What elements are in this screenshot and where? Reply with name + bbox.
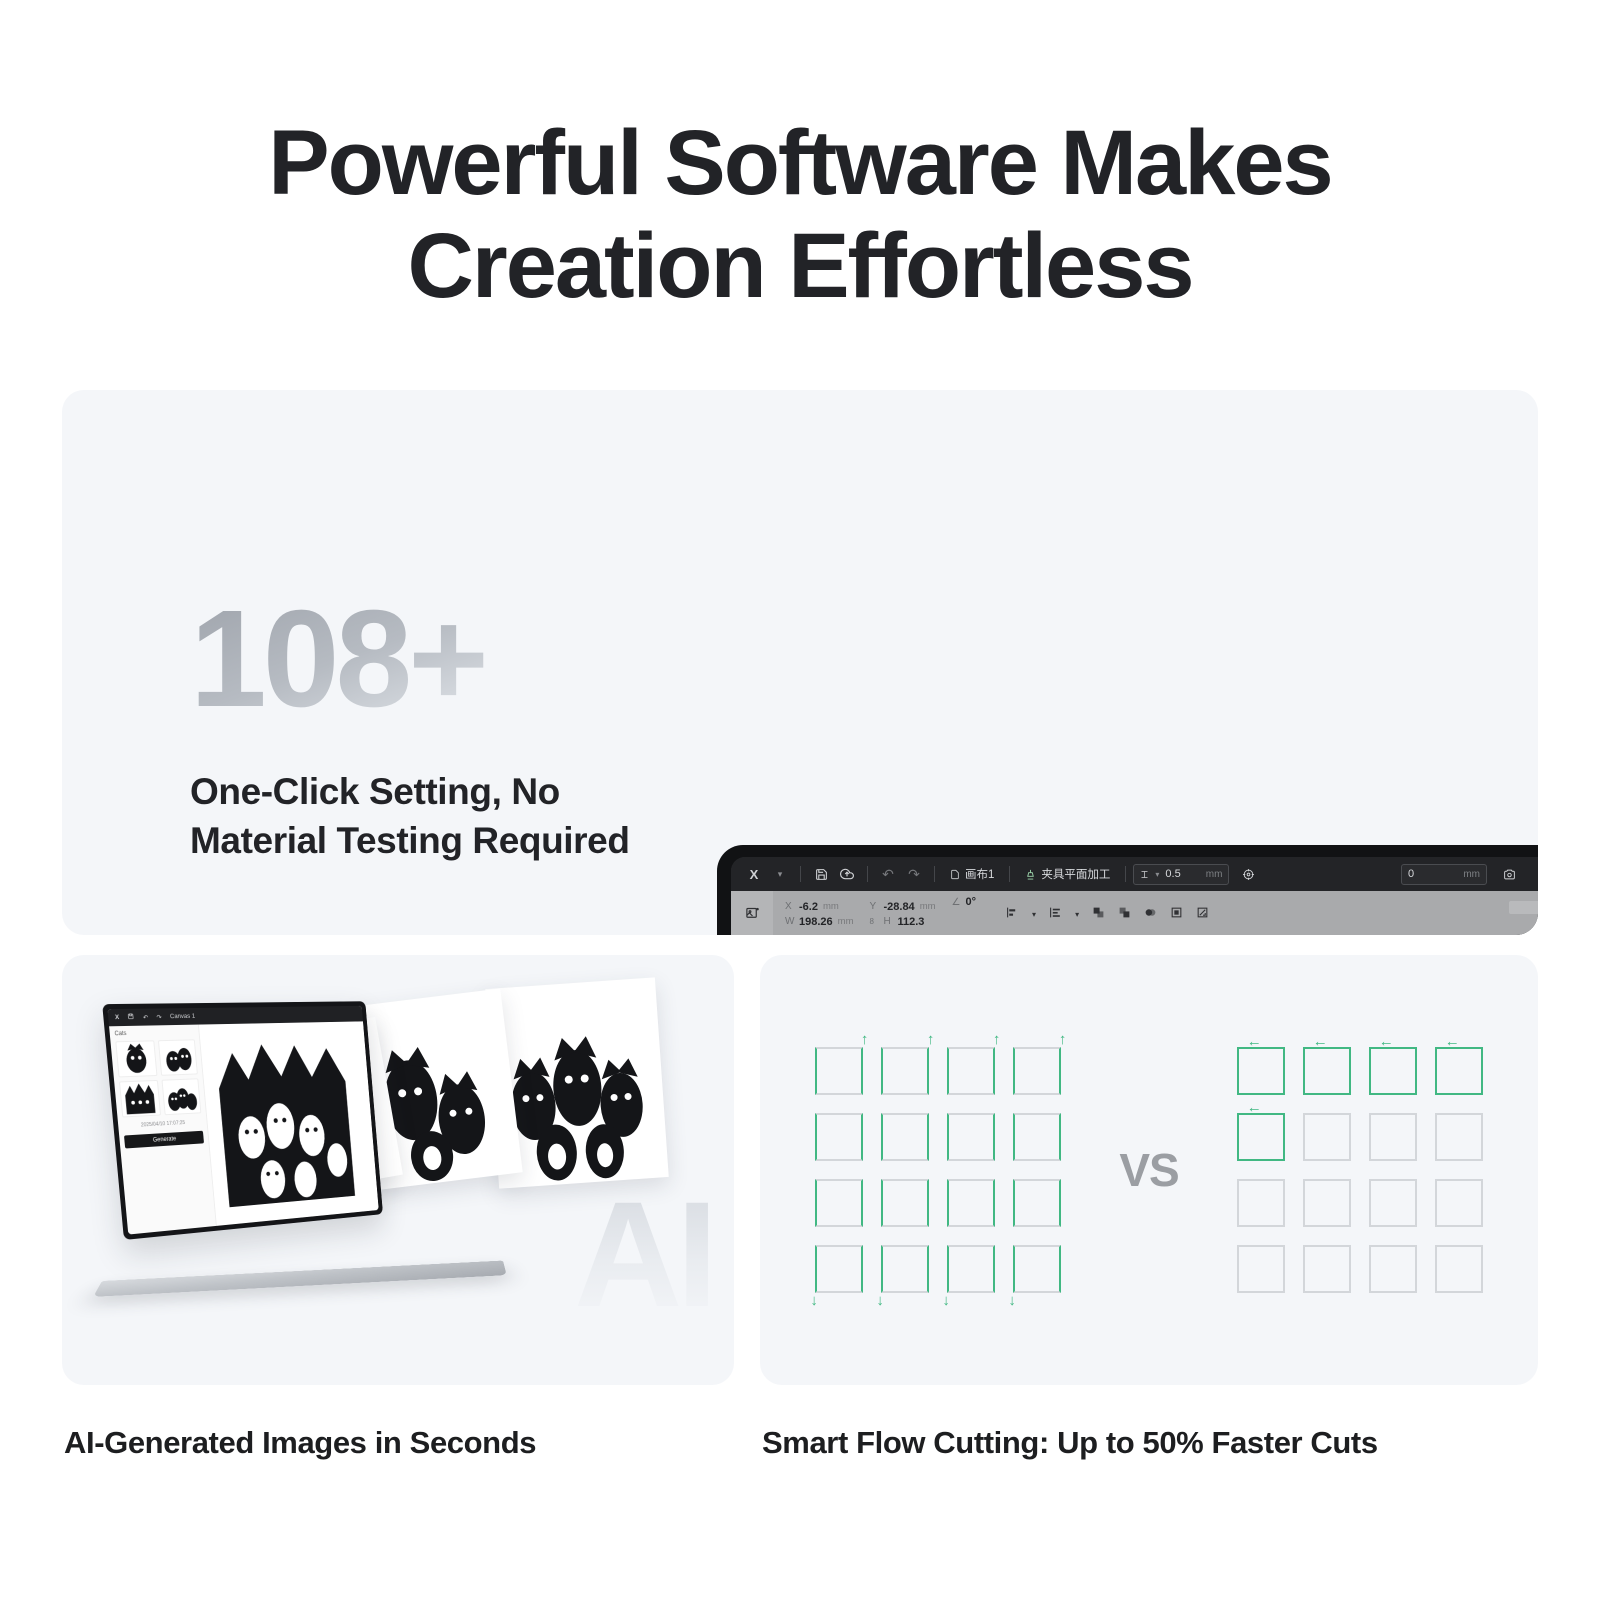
- toolbar-divider: [800, 866, 801, 882]
- flow-cell-square: [947, 1179, 995, 1227]
- flow-cell: ←: [1237, 1113, 1285, 1161]
- transform-icon[interactable]: [1196, 906, 1209, 922]
- y-value[interactable]: -28.84: [883, 901, 914, 913]
- offset-unit: mm: [1463, 869, 1480, 880]
- laptop-logo-icon[interactable]: X: [115, 1014, 120, 1021]
- flow-arrow-left-icon: ←: [1313, 1034, 1328, 1049]
- flow-arrow-up-icon: ↑: [861, 1032, 869, 1047]
- flow-cell: ←: [1435, 1047, 1483, 1095]
- offset-value: 0: [1408, 868, 1414, 880]
- toolbar-divider: [934, 866, 935, 882]
- flow-cell-square: [1237, 1113, 1285, 1161]
- stat-caption-line-2: Material Testing Required: [190, 820, 630, 861]
- app-workspace: T: [731, 891, 1538, 935]
- image-icon[interactable]: [741, 903, 763, 923]
- size-group: Y -28.84 mm 8 H 112.3: [869, 901, 935, 928]
- boolean-union-icon[interactable]: [1092, 906, 1105, 922]
- flow-cell: [881, 1113, 929, 1161]
- flow-cell-square: [881, 1113, 929, 1161]
- flow-cell: ←: [1369, 1047, 1417, 1095]
- flow-grid-standard: ←←←←←: [1237, 1047, 1483, 1293]
- flow-arrow-left-icon: ←: [1247, 1034, 1262, 1049]
- flow-arrow-left-icon: ←: [1247, 1100, 1262, 1115]
- flow-cell: [1013, 1113, 1061, 1161]
- flow-cell-square: [1237, 1245, 1285, 1293]
- laptop-app-body: Cats: [109, 1021, 379, 1234]
- flow-cell: [881, 1179, 929, 1227]
- angle-value[interactable]: 0°: [966, 896, 977, 908]
- flow-cell: ←: [1303, 1047, 1351, 1095]
- chevron-down-icon[interactable]: ▾: [1075, 910, 1079, 919]
- flow-cell: [1435, 1113, 1483, 1161]
- w-label: W: [785, 916, 794, 927]
- flow-cell-square: [1369, 1047, 1417, 1095]
- caption-ai-images: AI-Generated Images in Seconds: [64, 1425, 536, 1461]
- layer-chip[interactable]: [1509, 901, 1538, 914]
- page-title-line-2: Creation Effortless: [0, 215, 1600, 318]
- flow-comparison: ↑↑↑↑↓↓↓↓ VS ←←←←←: [760, 955, 1538, 1385]
- stat-caption: One-Click Setting, No Material Testing R…: [190, 768, 710, 866]
- flow-cell-square: [1369, 1179, 1417, 1227]
- flow-cell: [815, 1179, 863, 1227]
- flow-arrow-up-icon: ↑: [1059, 1032, 1067, 1047]
- page-title-line-1: Powerful Software Makes: [0, 112, 1600, 215]
- target-icon[interactable]: [1235, 862, 1261, 886]
- generation-timestamp: 2025/04/10 17:07:25: [123, 1119, 202, 1129]
- position-group: X -6.2 mm W 198.26 mm: [785, 901, 853, 928]
- flow-cell: ↑: [1013, 1047, 1061, 1095]
- left-tool-rail: T: [731, 891, 773, 935]
- flow-cell-square: [1013, 1179, 1061, 1227]
- laptop-mockup: X ↶ ↷ Canvas 1 Cats: [102, 995, 582, 1325]
- flow-cell-square: [1237, 1047, 1285, 1095]
- tablet-device-mockup: X ▾ ↶ ↷ 画布1: [717, 845, 1538, 935]
- flow-arrow-down-icon: ↓: [1008, 1293, 1016, 1308]
- flow-cell-square: [947, 1113, 995, 1161]
- app-top-toolbar: X ▾ ↶ ↷ 画布1: [731, 857, 1538, 891]
- stat-number: 108+: [190, 590, 710, 728]
- flow-arrow-down-icon: ↓: [810, 1293, 818, 1308]
- chevron-down-icon[interactable]: ▾: [1032, 910, 1036, 919]
- undo-icon[interactable]: ↶: [875, 862, 901, 886]
- flow-arrow-down-icon: ↓: [942, 1293, 950, 1308]
- flow-cell: ↑: [815, 1047, 863, 1095]
- flow-arrow-down-icon: ↓: [876, 1293, 884, 1308]
- app-logo-icon[interactable]: X: [741, 862, 767, 886]
- h-label: H: [883, 916, 892, 927]
- flow-cell: ←: [1237, 1047, 1285, 1095]
- toolbar-divider: [867, 866, 868, 882]
- flow-cell-square: [1435, 1047, 1483, 1095]
- flow-cell: ↑: [947, 1047, 995, 1095]
- thumbnail-item[interactable]: [161, 1078, 201, 1115]
- flow-cell-square: [1303, 1179, 1351, 1227]
- align-horizontal-icon[interactable]: [1006, 906, 1019, 922]
- flow-cell: ↓: [1013, 1245, 1061, 1293]
- laptop-sidebar: Cats: [109, 1025, 217, 1235]
- x-label: X: [785, 901, 794, 912]
- flow-cell: ↑: [881, 1047, 929, 1095]
- cloud-upload-icon[interactable]: [834, 862, 860, 886]
- flow-cell: [947, 1113, 995, 1161]
- redo-icon[interactable]: ↷: [901, 862, 927, 886]
- canvas-selector[interactable]: 画布1: [942, 866, 1002, 882]
- chevron-down-icon[interactable]: ▾: [767, 862, 793, 886]
- process-mode-label: 夹具平面加工: [1041, 866, 1110, 882]
- flow-cell: [1369, 1179, 1417, 1227]
- laptop-redo-icon[interactable]: ↷: [156, 1013, 162, 1021]
- page-title: Powerful Software Makes Creation Effortl…: [0, 0, 1600, 318]
- w-unit: mm: [838, 916, 854, 927]
- canvas-label: 画布1: [965, 866, 994, 882]
- flow-cell-square: [1369, 1245, 1417, 1293]
- flow-cell-square: [1237, 1179, 1285, 1227]
- toolbar-right-group: 0 mm: [1401, 857, 1538, 891]
- flow-cell-square: [881, 1179, 929, 1227]
- flow-cell-square: [1435, 1113, 1483, 1161]
- flow-cell-square: [1435, 1179, 1483, 1227]
- ai-watermark: AI: [574, 1179, 712, 1329]
- thumbnail-item[interactable]: [157, 1039, 197, 1076]
- flow-cell-square: [1303, 1245, 1351, 1293]
- flow-cell-square: [1369, 1113, 1417, 1161]
- y-unit: mm: [920, 901, 936, 912]
- stat-block: 108+ One-Click Setting, No Material Test…: [190, 590, 710, 866]
- stat-caption-line-1: One-Click Setting, No: [190, 771, 560, 812]
- properties-bar: X -6.2 mm W 198.26 mm: [773, 891, 1538, 935]
- laptop-screen: X ↶ ↷ Canvas 1 Cats: [107, 1006, 378, 1235]
- laptop-lid: X ↶ ↷ Canvas 1 Cats: [102, 1001, 383, 1240]
- x-value[interactable]: -6.2: [799, 901, 818, 913]
- flow-cell-square: [947, 1245, 995, 1293]
- tablet-screen: X ▾ ↶ ↷ 画布1: [731, 857, 1538, 935]
- vs-label: VS: [1119, 1143, 1178, 1197]
- x-unit: mm: [823, 901, 839, 912]
- laptop-undo-icon[interactable]: ↶: [143, 1013, 149, 1021]
- flow-cell: [1303, 1245, 1351, 1293]
- laptop-sidebar-title: Cats: [114, 1030, 194, 1038]
- thickness-unit: mm: [1206, 869, 1223, 880]
- laptop-canvas-label[interactable]: Canvas 1: [170, 1013, 196, 1020]
- flow-cell: ↓: [815, 1245, 863, 1293]
- feature-card-material-presets: 108+ One-Click Setting, No Material Test…: [62, 390, 1538, 935]
- flow-cell: ↓: [881, 1245, 929, 1293]
- flow-cell-square: [815, 1113, 863, 1161]
- canvas-column: X -6.2 mm W 198.26 mm: [773, 891, 1538, 935]
- thumbnail-item[interactable]: [119, 1080, 161, 1118]
- feature-card-smart-flow-cutting: ↑↑↑↑↓↓↓↓ VS ←←←←←: [760, 955, 1538, 1385]
- angle-icon: ∠: [952, 897, 961, 908]
- generated-thumbnails: [115, 1039, 201, 1117]
- laptop-canvas: [199, 1021, 379, 1225]
- offset-input[interactable]: 0 mm: [1401, 864, 1487, 885]
- flow-cell-square: [1303, 1113, 1351, 1161]
- flow-cell-square: [815, 1245, 863, 1293]
- flow-cell-square: [881, 1245, 929, 1293]
- angle-group: ∠ 0°: [952, 896, 977, 908]
- flow-cell-square: [1013, 1245, 1061, 1293]
- flow-cell: [1303, 1113, 1351, 1161]
- w-value[interactable]: 198.26: [799, 916, 833, 928]
- camera-icon[interactable]: [1496, 862, 1522, 886]
- flow-cell: [1435, 1245, 1483, 1293]
- toolbar-divider: [1125, 866, 1126, 882]
- process-mode-selector[interactable]: 夹具平面加工: [1017, 866, 1118, 882]
- align-tools-group: ▾ ▾: [1006, 906, 1209, 922]
- flow-cell: [1435, 1179, 1483, 1227]
- y-label: Y: [869, 901, 878, 912]
- flow-cell-square: [815, 1179, 863, 1227]
- thickness-input[interactable]: ▾ 0.5 mm: [1133, 864, 1229, 885]
- cat-artwork-main: [205, 1027, 374, 1220]
- flow-cell-square: [947, 1047, 995, 1095]
- flow-cell-square: [815, 1047, 863, 1095]
- align-vertical-icon[interactable]: [1049, 906, 1062, 922]
- caption-smart-flow: Smart Flow Cutting: Up to 50% Faster Cut…: [762, 1425, 1378, 1461]
- flow-arrow-up-icon: ↑: [927, 1032, 935, 1047]
- boolean-subtract-icon[interactable]: [1118, 906, 1131, 922]
- flow-cell: [1237, 1179, 1285, 1227]
- flow-cell-square: [1303, 1047, 1351, 1095]
- flow-cell-square: [1013, 1047, 1061, 1095]
- thickness-value: 0.5: [1165, 868, 1180, 880]
- flow-cell: [815, 1113, 863, 1161]
- flow-cell: [1237, 1245, 1285, 1293]
- flow-cell-square: [1013, 1113, 1061, 1161]
- toolbar-divider: [1009, 866, 1010, 882]
- link-lock-icon[interactable]: 8: [869, 917, 878, 926]
- flow-cell: [1369, 1245, 1417, 1293]
- h-value[interactable]: 112.3: [897, 916, 924, 928]
- generate-button[interactable]: Generate: [124, 1131, 204, 1149]
- flow-grid-optimized: ↑↑↑↑↓↓↓↓: [815, 1047, 1061, 1293]
- feature-card-ai-images: AI: [62, 955, 734, 1385]
- flow-arrow-left-icon: ←: [1445, 1034, 1460, 1049]
- flow-cell: [1303, 1179, 1351, 1227]
- boolean-intersect-icon[interactable]: [1144, 906, 1157, 922]
- flow-cell: [1369, 1113, 1417, 1161]
- flow-cell: [1013, 1179, 1061, 1227]
- laptop-base: [93, 1261, 506, 1297]
- flow-arrow-up-icon: ↑: [993, 1032, 1001, 1047]
- flow-cell: ↓: [947, 1245, 995, 1293]
- laptop-save-icon[interactable]: [127, 1013, 134, 1022]
- group-icon[interactable]: [1170, 906, 1183, 922]
- thumbnail-item[interactable]: [115, 1040, 157, 1077]
- flow-arrow-left-icon: ←: [1379, 1034, 1394, 1049]
- save-icon[interactable]: [808, 862, 834, 886]
- flow-cell: [947, 1179, 995, 1227]
- flow-cell-square: [1435, 1245, 1483, 1293]
- flow-cell-square: [881, 1047, 929, 1095]
- frame-icon[interactable]: [1531, 862, 1538, 886]
